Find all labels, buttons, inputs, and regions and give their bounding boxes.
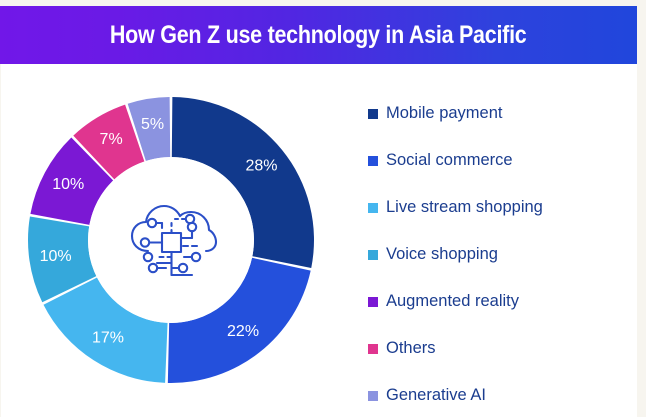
donut-center-hole: [88, 157, 254, 323]
slice-value-label: 28%: [245, 158, 277, 175]
slice-value-label: 5%: [141, 116, 164, 133]
legend-item-label: Live stream shopping: [386, 199, 543, 216]
legend-item[interactable]: Others: [368, 325, 633, 372]
legend-item[interactable]: Live stream shopping: [368, 184, 633, 231]
legend-swatch-icon: [368, 344, 378, 354]
legend-item-label: Others: [386, 340, 436, 357]
page-margin-right: [637, 0, 646, 417]
legend-item-label: Social commerce: [386, 152, 513, 169]
legend-swatch-icon: [368, 250, 378, 260]
legend-item-label: Voice shopping: [386, 246, 498, 263]
legend-item[interactable]: Mobile payment: [368, 90, 633, 137]
legend-swatch-icon: [368, 156, 378, 166]
title-banner: How Gen Z use technology in Asia Pacific: [0, 6, 637, 64]
legend-swatch-icon: [368, 203, 378, 213]
slice-value-label: 17%: [92, 329, 124, 346]
page-title: How Gen Z use technology in Asia Pacific: [110, 21, 527, 50]
chart-legend: Mobile paymentSocial commerceLive stream…: [368, 90, 633, 417]
legend-item[interactable]: Social commerce: [368, 137, 633, 184]
legend-item[interactable]: Augmented reality: [368, 278, 633, 325]
slide-canvas: How Gen Z use technology in Asia Pacific: [0, 0, 646, 417]
legend-item-label: Mobile payment: [386, 105, 502, 122]
legend-item[interactable]: Voice shopping: [368, 231, 633, 278]
slice-value-label: 22%: [227, 323, 259, 340]
legend-item-label: Generative AI: [386, 387, 486, 404]
legend-swatch-icon: [368, 297, 378, 307]
donut-chart: 28%22%17%10%10%7%5%: [0, 64, 360, 417]
slice-value-label: 7%: [100, 131, 123, 148]
legend-swatch-icon: [368, 109, 378, 119]
slice-value-label: 10%: [52, 176, 84, 193]
slice-value-label: 10%: [40, 248, 72, 265]
legend-swatch-icon: [368, 391, 378, 401]
donut-chart-svg: 28%22%17%10%10%7%5%: [0, 64, 360, 417]
legend-item[interactable]: Generative AI: [368, 372, 633, 417]
legend-item-label: Augmented reality: [386, 293, 519, 310]
